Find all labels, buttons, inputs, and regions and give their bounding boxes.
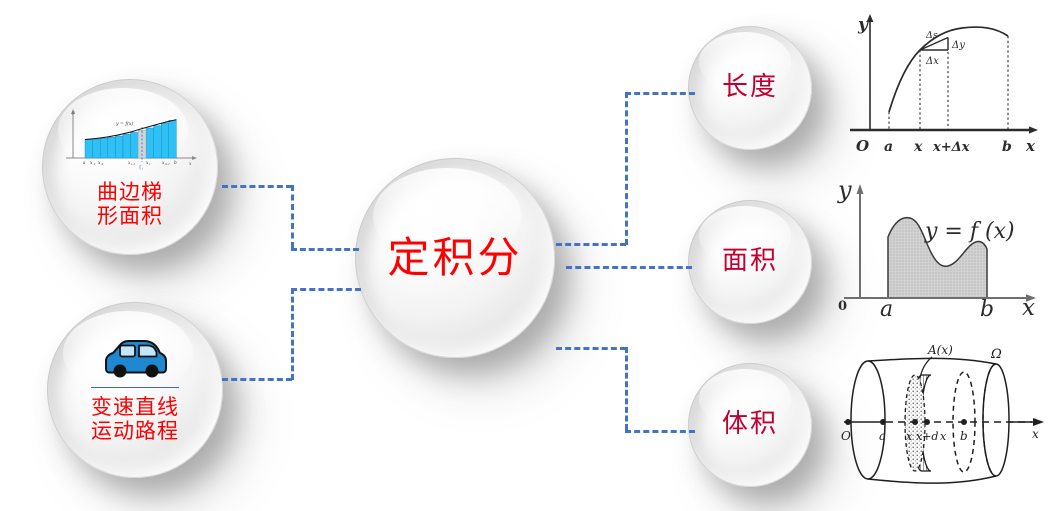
node-variable-speed-motion[interactable]: 变速直线 运动路程 [47, 302, 223, 478]
svg-text:a: a [884, 139, 893, 155]
svg-text:b: b [174, 160, 177, 165]
svg-text:a: a [83, 160, 86, 165]
svg-text:a: a [880, 297, 893, 322]
svg-text:n-1: n-1 [165, 162, 170, 166]
svg-text:O: O [841, 429, 851, 443]
svg-text:Δs: Δs [925, 30, 938, 41]
svg-text:O: O [856, 137, 869, 155]
svg-text:x: x [189, 162, 192, 167]
connector-motion-h2 [291, 288, 361, 291]
figure-solid-volume: O a x x+d x b x A(x) Ω [836, 334, 1054, 511]
connector-volume-h1 [556, 347, 626, 350]
node-length[interactable]: 长度 [688, 26, 812, 150]
svg-text:b: b [980, 297, 994, 322]
connector-length-v [625, 92, 628, 245]
svg-text:i: i [149, 162, 150, 166]
node-label-area: 面积 [722, 247, 778, 276]
node-area[interactable]: 面积 [688, 200, 812, 324]
connector-motion-h1 [222, 378, 292, 381]
svg-text:i: i [142, 166, 143, 170]
svg-text:x: x [940, 430, 947, 443]
connector-volume-h2 [625, 430, 695, 433]
node-label-volume: 体积 [722, 410, 778, 439]
svg-text:y: y [71, 111, 75, 116]
svg-text:b: b [1002, 139, 1012, 155]
node-label-motion: 变速直线 运动路程 [91, 396, 179, 443]
svg-text:Δx: Δx [925, 56, 939, 67]
connector-trapezoid-v [291, 185, 294, 248]
car-icon [98, 336, 172, 385]
riemann-sum-chart-icon: y x [60, 106, 200, 177]
svg-text:y: y [837, 176, 852, 204]
node-definite-integral[interactable]: 定积分 [355, 158, 555, 358]
svg-text:1: 1 [93, 162, 95, 166]
svg-text:i-1: i-1 [131, 162, 135, 166]
svg-text:x+d: x+d [916, 430, 938, 443]
node-label-length: 长度 [722, 73, 778, 102]
svg-text:x+Δx: x+Δx [932, 140, 970, 155]
svg-text:a: a [879, 429, 886, 443]
svg-text:A(x): A(x) [927, 343, 953, 357]
svg-text:x: x [913, 139, 923, 155]
figure-area-under-curve: y 0 x a b y = f (x) [830, 170, 1054, 335]
svg-text:Ω: Ω [990, 347, 1002, 362]
node-label-center: 定积分 [387, 234, 522, 281]
svg-text:2: 2 [100, 162, 103, 166]
svg-text:x: x [1032, 427, 1039, 441]
svg-text:x: x [1022, 295, 1035, 321]
connector-volume-v [625, 347, 628, 430]
connector-trapezoid-h1 [222, 185, 292, 188]
connector-length-h2 [625, 92, 695, 95]
node-label-trapezoid: 曲边梯 形面积 [97, 181, 163, 228]
svg-text:b: b [960, 429, 968, 443]
svg-text:Δy: Δy [951, 40, 965, 51]
connector-length-h1 [556, 243, 626, 246]
svg-text:y = f (x): y = f (x) [924, 219, 1015, 244]
connector-trapezoid-h2 [291, 248, 359, 251]
svg-text:x: x [906, 430, 913, 443]
connector-motion-v [291, 288, 294, 380]
car-baseline [91, 387, 179, 388]
node-volume[interactable]: 体积 [688, 363, 812, 487]
svg-text:0: 0 [838, 299, 847, 314]
svg-text:y = f(x): y = f(x) [115, 120, 133, 127]
connector-area-h [566, 266, 692, 269]
node-curved-trapezoid-area[interactable]: y x [42, 79, 218, 255]
diagram-canvas: y x [0, 0, 1058, 509]
figure-arc-length: y O x a x x+Δx b Δs Δy Δx [836, 6, 1050, 163]
svg-text:x: x [1025, 137, 1036, 155]
svg-text:y: y [857, 15, 869, 35]
